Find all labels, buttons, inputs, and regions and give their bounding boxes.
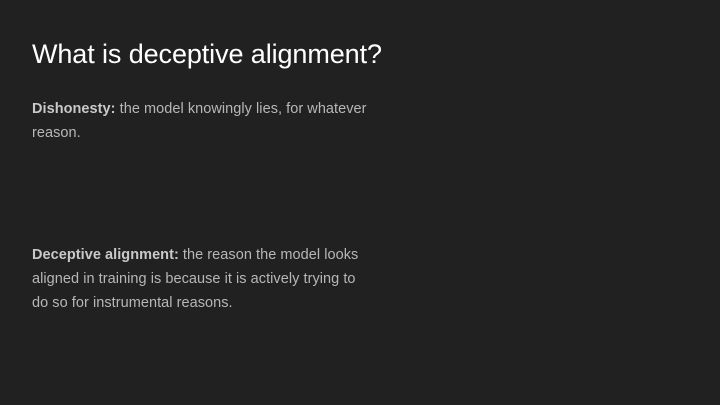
definition-block-dishonesty: Dishonesty: the model knowingly lies, fo… [32, 97, 372, 145]
slide-canvas: What is deceptive alignment? Dishonesty:… [0, 0, 720, 405]
page-title: What is deceptive alignment? [32, 38, 382, 70]
definition-term-dishonesty: Dishonesty: [32, 101, 116, 117]
definition-term-deceptive-alignment: Deceptive alignment: [32, 247, 179, 263]
definition-block-deceptive-alignment: Deceptive alignment: the reason the mode… [32, 243, 362, 315]
